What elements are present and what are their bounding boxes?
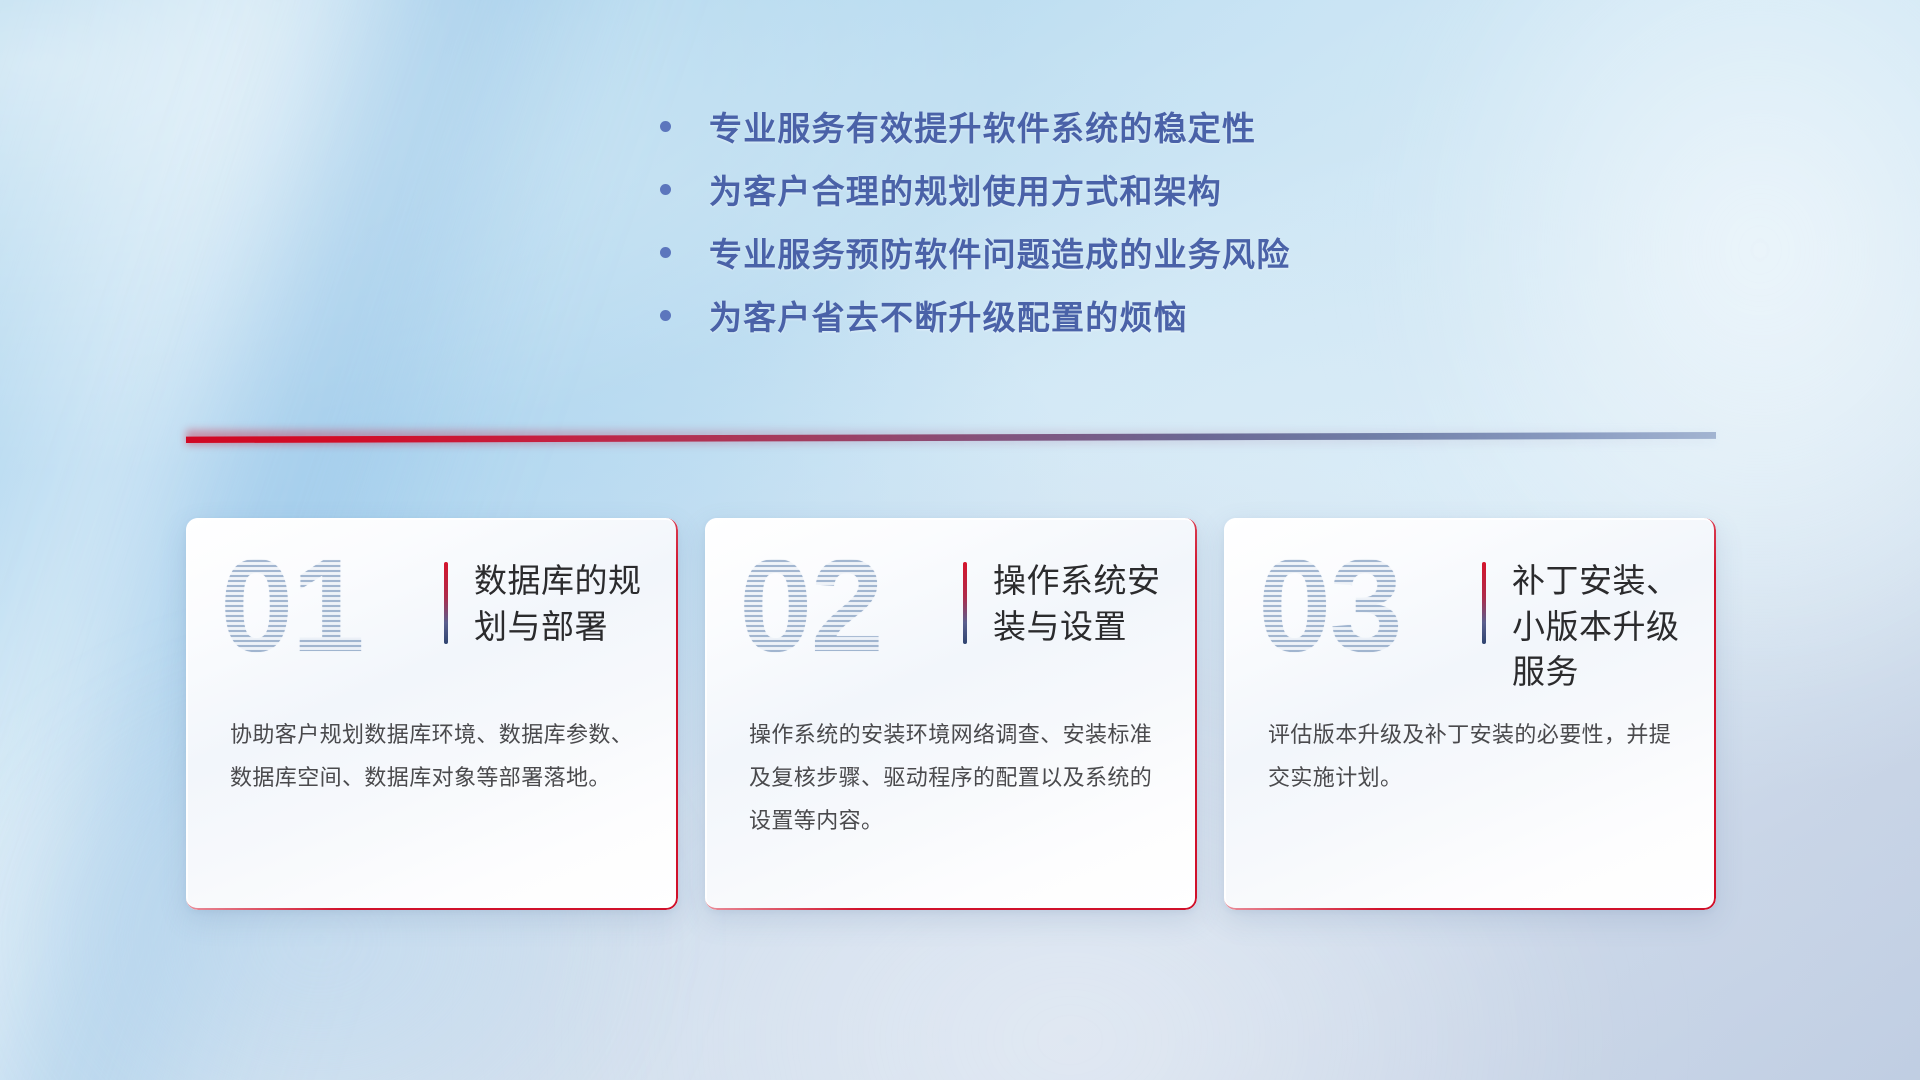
service-card-02[interactable]: 02 02 操作系统安装与设置 操作系统的安装环境网络调查、安装标准及复核步骤、… bbox=[705, 518, 1197, 910]
bullet-dot-icon bbox=[660, 184, 671, 195]
bullet-text: 为客户省去不断升级配置的烦恼 bbox=[709, 301, 1188, 334]
list-item: 为客户省去不断升级配置的烦恼 bbox=[660, 301, 1290, 334]
card-title-accent-bar bbox=[1482, 562, 1486, 644]
list-item: 专业服务预防软件问题造成的业务风险 bbox=[660, 238, 1290, 271]
service-card-03[interactable]: 03 03 补丁安装、小版本升级服务 评估版本升级及补丁安装的必要性，并提交实施… bbox=[1224, 518, 1716, 910]
list-item: 为客户合理的规划使用方式和架构 bbox=[660, 175, 1290, 208]
bullet-text: 为客户合理的规划使用方式和架构 bbox=[709, 175, 1222, 208]
bullet-text: 专业服务有效提升软件系统的稳定性 bbox=[709, 112, 1256, 145]
card-header: 02 02 操作系统安装与设置 bbox=[705, 518, 1197, 710]
bullet-dot-icon bbox=[660, 310, 671, 321]
card-title-accent-bar bbox=[963, 562, 967, 644]
section-divider bbox=[186, 430, 1716, 446]
card-title: 数据库的规划与部署 bbox=[474, 558, 664, 649]
service-cards-row: 01 01 数据库的规划与部署 协助客户规划数据库环境、数据库参数、数据库空间、… bbox=[186, 518, 1716, 918]
card-description: 评估版本升级及补丁安装的必要性，并提交实施计划。 bbox=[1268, 714, 1676, 800]
card-number-watermark: 03 bbox=[1258, 540, 1401, 672]
service-card-01[interactable]: 01 01 数据库的规划与部署 协助客户规划数据库环境、数据库参数、数据库空间、… bbox=[186, 518, 678, 910]
bullet-dot-icon bbox=[660, 121, 671, 132]
card-title: 操作系统安装与设置 bbox=[993, 558, 1183, 649]
card-title: 补丁安装、小版本升级服务 bbox=[1512, 558, 1702, 695]
card-number-watermark: 01 bbox=[220, 540, 363, 672]
card-description: 操作系统的安装环境网络调查、安装标准及复核步骤、驱动程序的配置以及系统的设置等内… bbox=[749, 714, 1157, 843]
benefits-bullet-list: 专业服务有效提升软件系统的稳定性 为客户合理的规划使用方式和架构 专业服务预防软… bbox=[660, 112, 1290, 334]
card-header: 01 01 数据库的规划与部署 bbox=[186, 518, 678, 710]
card-description: 协助客户规划数据库环境、数据库参数、数据库空间、数据库对象等部署落地。 bbox=[230, 714, 638, 800]
card-title-accent-bar bbox=[444, 562, 448, 644]
bullet-dot-icon bbox=[660, 247, 671, 258]
slide-canvas: 专业服务有效提升软件系统的稳定性 为客户合理的规划使用方式和架构 专业服务预防软… bbox=[0, 0, 1920, 1080]
bullet-text: 专业服务预防软件问题造成的业务风险 bbox=[709, 238, 1290, 271]
list-item: 专业服务有效提升软件系统的稳定性 bbox=[660, 112, 1290, 145]
card-number-watermark: 02 bbox=[739, 540, 882, 672]
card-header: 03 03 补丁安装、小版本升级服务 bbox=[1224, 518, 1716, 710]
